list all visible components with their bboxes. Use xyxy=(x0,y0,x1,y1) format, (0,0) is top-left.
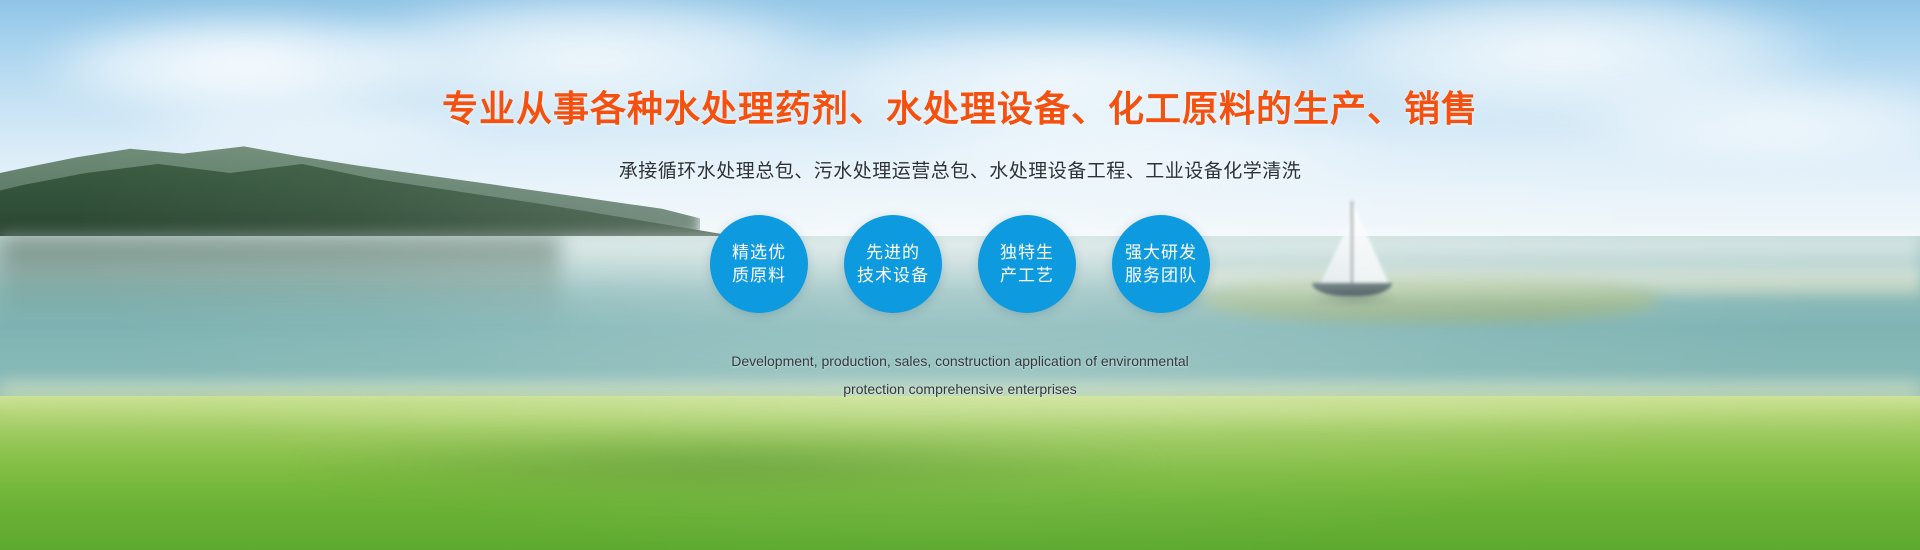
feature-circle-1-line2: 质原料 xyxy=(732,264,786,287)
banner-headline: 专业从事各种水处理药剂、水处理设备、化工原料的生产、销售 xyxy=(442,80,1478,132)
feature-circle-3-line2: 产工艺 xyxy=(1000,264,1054,287)
banner-english-text: Development, production, sales, construc… xyxy=(610,347,1310,403)
feature-circle-1-line1: 精选优 xyxy=(732,241,786,264)
grass-shadow xyxy=(280,430,1180,500)
boat-mast xyxy=(1351,201,1353,285)
island xyxy=(1200,278,1660,322)
feature-circle-4-line2: 服务团队 xyxy=(1125,264,1197,287)
sailboat-icon xyxy=(1300,192,1410,302)
feature-circle-4[interactable]: 强大研发 服务团队 xyxy=(1112,215,1210,313)
feature-circle-2-line2: 技术设备 xyxy=(857,264,929,287)
banner-subheadline: 承接循环水处理总包、污水处理运营总包、水处理设备工程、工业设备化学清洗 xyxy=(619,156,1302,183)
feature-circle-4-line1: 强大研发 xyxy=(1125,241,1197,264)
sail-main xyxy=(1353,204,1389,284)
hero-banner: 专业从事各种水处理药剂、水处理设备、化工原料的生产、销售 承接循环水处理总包、污… xyxy=(0,0,1920,550)
feature-circle-2[interactable]: 先进的 技术设备 xyxy=(844,215,942,313)
english-line-1: Development, production, sales, construc… xyxy=(610,347,1310,375)
feature-circle-1[interactable]: 精选优 质原料 xyxy=(710,215,808,313)
feature-circle-3[interactable]: 独特生 产工艺 xyxy=(978,215,1076,313)
feature-circle-list: 精选优 质原料 先进的 技术设备 独特生 产工艺 强大研发 服务团队 xyxy=(710,215,1210,313)
sail-jib xyxy=(1320,218,1352,284)
water-reflection xyxy=(0,236,560,326)
feature-circle-3-line1: 独特生 xyxy=(1000,241,1054,264)
feature-circle-2-line1: 先进的 xyxy=(866,241,920,264)
english-line-2: protection comprehensive enterprises xyxy=(610,375,1310,403)
boat-shadow xyxy=(1308,292,1400,304)
